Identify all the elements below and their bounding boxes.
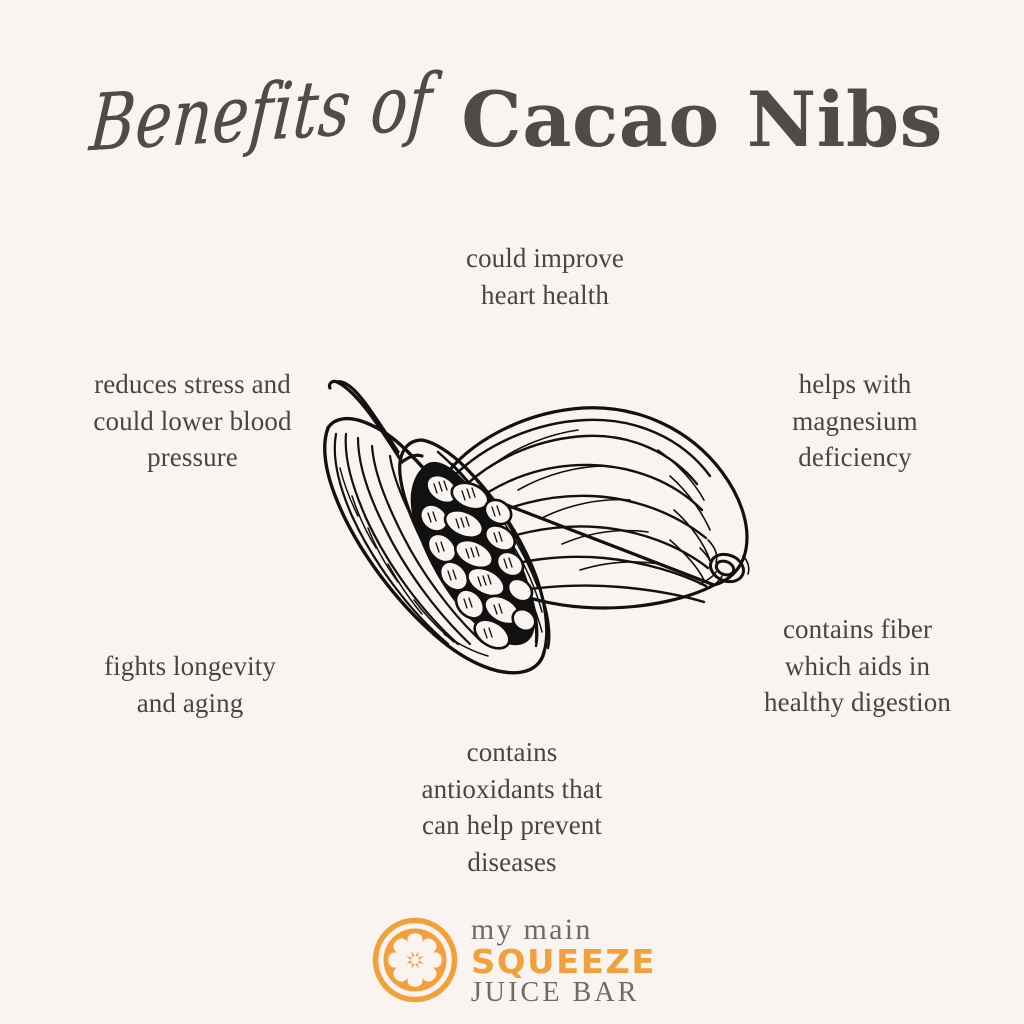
orange-citrus-slice-icon [372,917,458,1003]
benefit-fiber-digestion: contains fiber which aids in healthy dig… [700,611,1015,721]
brand-line-my-main: my main [471,915,652,945]
brand-line-juice-bar: JUICE BAR [471,978,652,1008]
page-title: Benefits of Cacao Nibs [0,58,1024,178]
benefit-antioxidants: contains antioxidants that can help prev… [362,734,662,880]
benefit-heart-health: could improve heart health [395,240,695,313]
benefit-magnesium: helps with magnesium deficiency [705,366,1005,476]
benefit-longevity-aging: fights longevity and aging [40,648,340,721]
brand-wordmark: my main SQUEEZE JUICE BAR [471,913,652,1008]
title-script-part: Benefits of [87,64,435,163]
brand-logo: my main SQUEEZE JUICE BAR [0,908,1024,1012]
benefit-stress-blood-pressure: reduces stress and could lower blood pre… [35,366,350,476]
title-serif-part: Cacao Nibs [461,82,943,158]
infographic-poster: Benefits of Cacao Nibs [0,0,1024,1024]
brand-line-squeeze: SQUEEZE [471,945,656,978]
